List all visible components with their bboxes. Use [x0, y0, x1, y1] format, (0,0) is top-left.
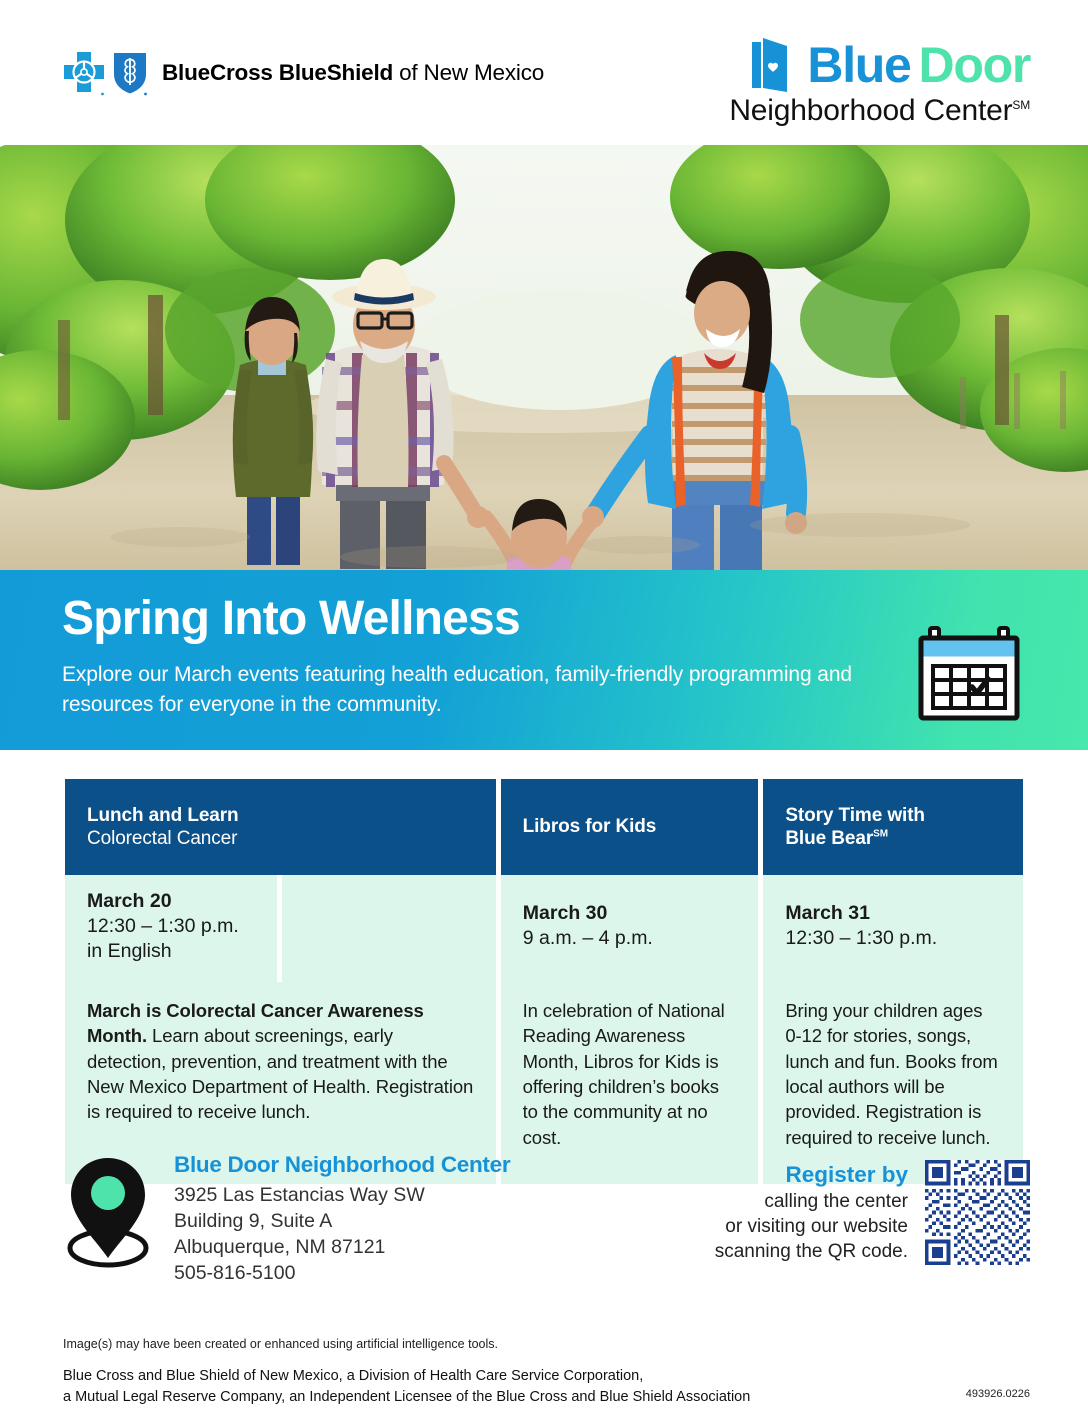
header-sm-mark: SM	[873, 829, 888, 840]
address-street: 3925 Las Estancias Way SW	[174, 1183, 510, 1209]
blue-door-sm-mark: SM	[1012, 98, 1030, 112]
banner-subtitle: Explore our March events featuring healt…	[62, 660, 882, 720]
center-name: Blue Door Neighborhood Center	[174, 1152, 510, 1178]
page-header: BlueCross BlueShield of New Mexico Blue …	[0, 0, 1088, 145]
description-paragraph: March is Colorectal Cancer Awareness Mon…	[87, 998, 474, 1125]
register-line-3: scanning the QR code.	[678, 1239, 908, 1264]
bluecross-blueshield-logo: BlueCross BlueShield of New Mexico	[62, 50, 544, 96]
table-header-lunch-and-learn: Lunch and Learn Colorectal Cancer	[65, 779, 496, 875]
header-subtitle: Colorectal Cancer	[87, 827, 474, 850]
description-paragraph: In celebration of National Reading Aware…	[523, 998, 737, 1150]
description-cell-libros-for-kids: In celebration of National Reading Aware…	[501, 982, 759, 1184]
contact-block: Blue Door Neighborhood Center 3925 Las E…	[62, 1152, 510, 1287]
register-line-2: or visiting our website	[678, 1214, 908, 1239]
blue-door-logo: Blue Door Neighborhood CenterSM	[729, 38, 1030, 127]
header-title: Libros for Kids	[523, 815, 737, 838]
register-block: Register by calling the center or visiti…	[678, 1160, 908, 1264]
document-code: 493926.0226	[966, 1388, 1030, 1400]
header-subtitle: Blue Bear	[785, 828, 873, 849]
description-cell-story-time: Bring your children ages 0-12 for storie…	[763, 982, 1023, 1184]
legal-line-1: Blue Cross and Blue Shield of New Mexico…	[63, 1366, 750, 1387]
ai-disclaimer: Image(s) may have been created or enhanc…	[63, 1337, 498, 1351]
location-pin-icon	[62, 1152, 154, 1287]
blue-door-subtitle-row: Neighborhood CenterSM	[729, 94, 1030, 127]
date-cell-story-time: March 31 12:30 – 1:30 p.m.	[763, 875, 1023, 982]
register-title: Register by	[678, 1160, 908, 1189]
family-walking-illustration	[0, 145, 1088, 575]
calendar-icon	[916, 618, 1022, 727]
date-value: March 30	[523, 901, 737, 926]
time-value: 9 a.m. – 4 p.m.	[523, 926, 737, 951]
legal-line-2: a Mutual Legal Reserve Company, an Indep…	[63, 1387, 750, 1408]
qr-code[interactable]	[925, 1160, 1030, 1270]
phone-number[interactable]: 505-816-5100	[174, 1261, 510, 1287]
date-value: March 31	[785, 901, 1001, 926]
blue-door-subtitle: Neighborhood Center	[729, 94, 1012, 127]
bcbs-brand-bold: BlueCross BlueShield	[162, 60, 393, 85]
events-table: Lunch and Learn Colorectal Cancer Libros…	[65, 779, 1023, 1184]
time-value: 12:30 – 1:30 p.m.	[87, 914, 255, 939]
blue-door-word-blue: Blue	[807, 40, 910, 90]
table-date-row: March 20 12:30 – 1:30 p.m. in English Ma…	[65, 875, 1023, 982]
address-city-state-zip: Albuquerque, NM 87121	[174, 1235, 510, 1261]
date-cell-empty	[282, 875, 496, 982]
legal-disclaimer: Blue Cross and Blue Shield of New Mexico…	[63, 1366, 750, 1408]
open-door-icon	[749, 38, 799, 92]
table-header-libros-for-kids: Libros for Kids	[501, 779, 759, 875]
header-subtitle-row: Blue BearSM	[785, 827, 1001, 850]
address-block: Blue Door Neighborhood Center 3925 Las E…	[174, 1152, 510, 1287]
date-cell-lunch-and-learn: March 20 12:30 – 1:30 p.m. in English	[65, 875, 277, 982]
header-title: Lunch and Learn	[87, 804, 474, 827]
blue-cross-icon	[62, 50, 106, 96]
banner-title: Spring Into Wellness	[62, 595, 520, 643]
header-title: Story Time with	[785, 804, 1001, 827]
description-body: Bring your children ages 0-12 for storie…	[785, 1000, 997, 1148]
description-paragraph: Bring your children ages 0-12 for storie…	[785, 998, 1001, 1150]
date-value: March 20	[87, 889, 255, 914]
hero-banner: Spring Into Wellness Explore our March e…	[0, 570, 1088, 750]
blue-shield-icon	[111, 50, 149, 96]
blue-door-word-green: Door	[919, 40, 1030, 90]
bcbs-brand-light: of New Mexico	[393, 60, 544, 85]
blue-door-wordmark-row: Blue Door	[729, 38, 1030, 92]
hero-photo	[0, 145, 1088, 575]
register-line-1: calling the center	[678, 1189, 908, 1214]
time-value: 12:30 – 1:30 p.m.	[785, 926, 1001, 951]
bcbs-marks	[62, 50, 149, 96]
table-header-story-time: Story Time with Blue BearSM	[763, 779, 1023, 875]
description-body: In celebration of National Reading Aware…	[523, 1000, 725, 1148]
date-cell-libros-for-kids: March 30 9 a.m. – 4 p.m.	[501, 875, 759, 982]
table-header-row: Lunch and Learn Colorectal Cancer Libros…	[65, 779, 1023, 875]
address-building: Building 9, Suite A	[174, 1209, 510, 1235]
bcbs-wordmark: BlueCross BlueShield of New Mexico	[162, 60, 544, 86]
language-note: in English	[87, 939, 255, 964]
